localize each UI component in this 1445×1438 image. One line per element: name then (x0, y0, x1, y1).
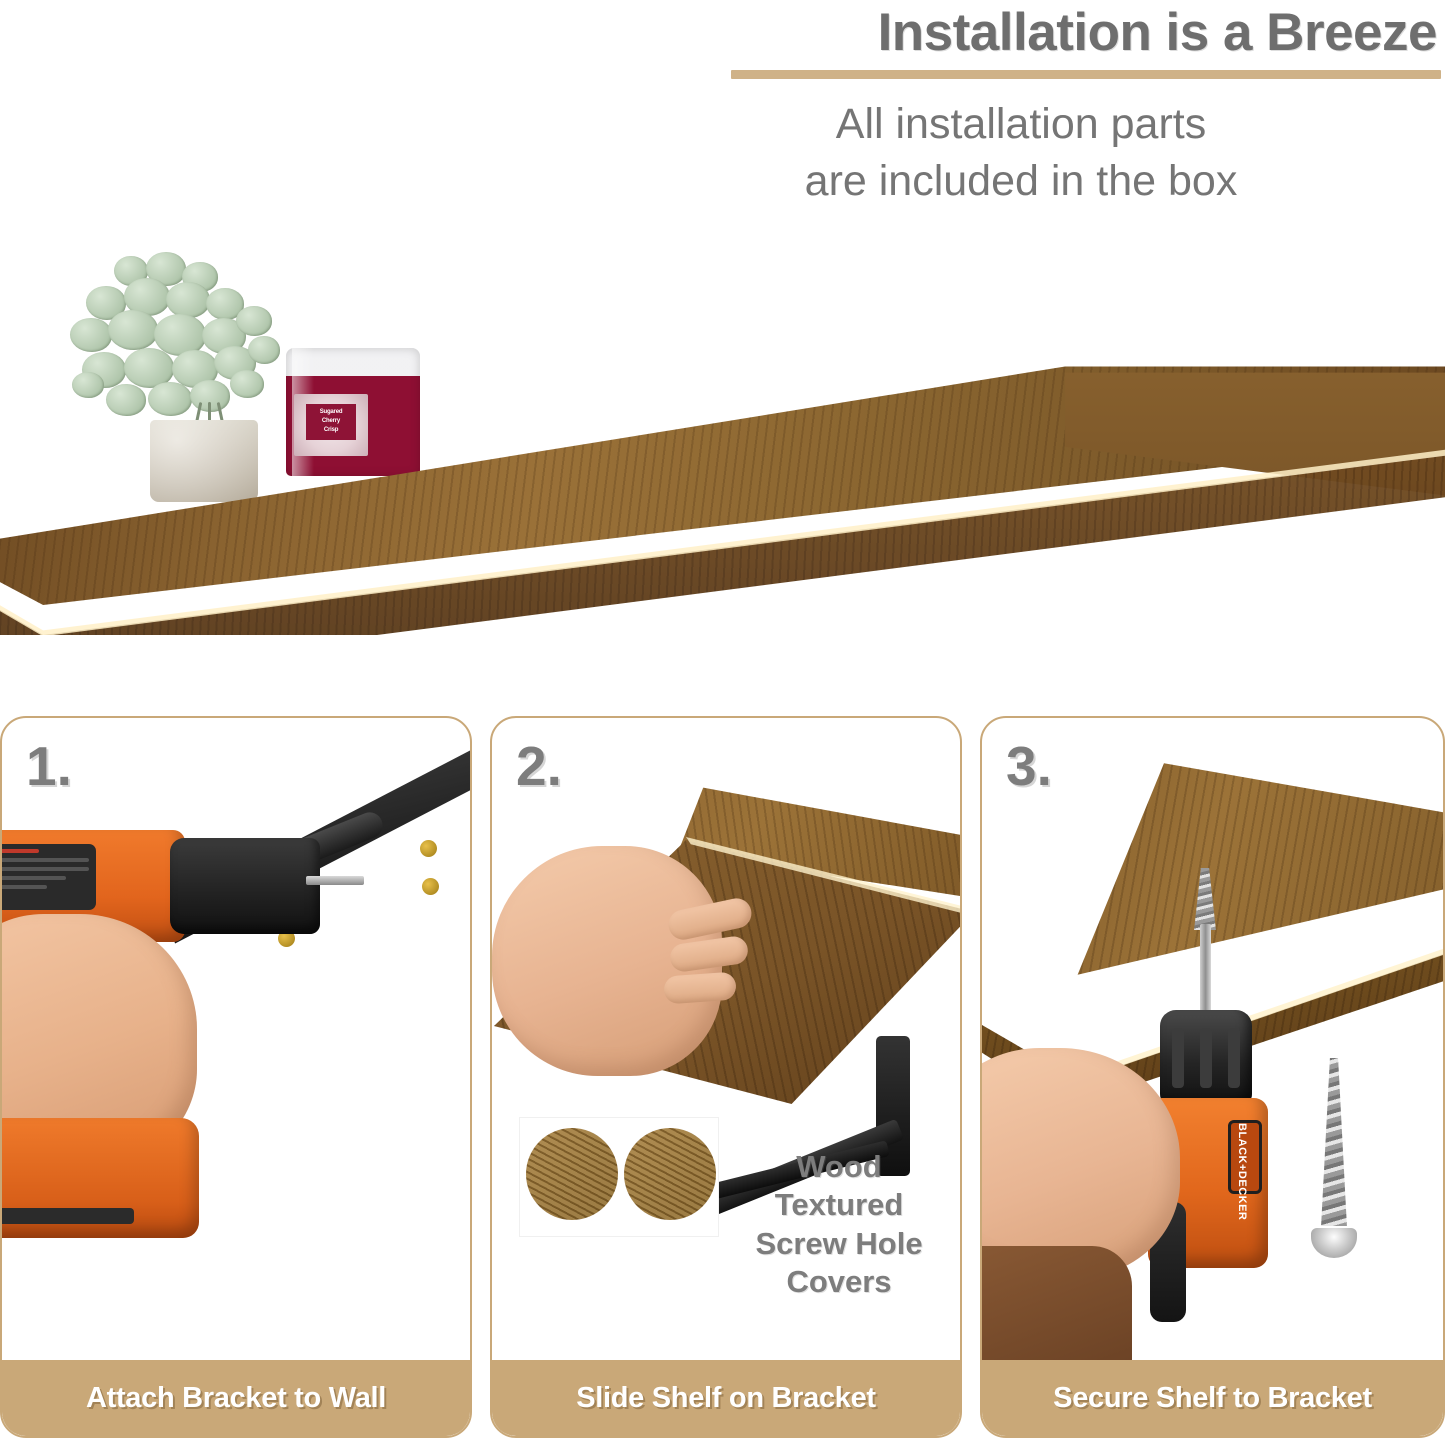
sleeve-cuff (982, 1246, 1132, 1376)
subtitle-line-1: All installation parts (836, 100, 1206, 148)
step-caption-1: Attach Bracket to Wall (2, 1360, 470, 1436)
step-2-illustration: x 2 Wood Textured Screw Hole Covers (492, 718, 960, 1378)
cover-dot-2 (624, 1128, 716, 1220)
drill-chuck (170, 838, 320, 934)
step-caption-3: Secure Shelf to Bracket (982, 1360, 1443, 1436)
silver-screw-part (1312, 1058, 1356, 1258)
screw-hole-covers-swatch (520, 1118, 718, 1236)
drill-bit-icon (306, 876, 364, 885)
step-caption-2: Slide Shelf on Bracket (492, 1360, 960, 1436)
page-title: Installation is a Breeze (878, 2, 1437, 63)
drill-battery (2, 1118, 199, 1238)
step-number-3: 3. (1006, 734, 1052, 798)
step-card-1[interactable]: 1. (0, 716, 472, 1438)
drill-spec-label (2, 844, 96, 910)
step-3-illustration: BLACK+DECKER x 2 (982, 718, 1443, 1378)
black-decker-logo: BLACK+DECKER (1228, 1120, 1262, 1194)
subtitle: All installation parts are included in t… (671, 96, 1371, 210)
header: Installation is a Breeze All installatio… (0, 0, 1445, 230)
cover-dot-1 (526, 1128, 618, 1220)
installation-steps: 1. (0, 716, 1445, 1438)
floating-shelf (0, 305, 1445, 665)
drill-bit-3-icon (1200, 924, 1211, 1016)
drill-chuck-3 (1160, 1010, 1252, 1106)
subtitle-line-2: are included in the box (671, 153, 1371, 210)
step-number-1: 1. (26, 734, 72, 798)
step-1-illustration: x 10 x 10 (2, 718, 470, 1378)
step-number-2: 2. (516, 734, 562, 798)
title-divider (731, 70, 1441, 79)
covers-description: Wood Textured Screw Hole Covers (744, 1148, 934, 1302)
infographic-page: Installation is a Breeze All installatio… (0, 0, 1445, 1438)
step-card-2[interactable]: 2. (490, 716, 962, 1438)
hero-product-photo: Sugared Cherry Crisp (0, 230, 1445, 690)
step-card-3[interactable]: 3. BLACK+DECKER (980, 716, 1445, 1438)
